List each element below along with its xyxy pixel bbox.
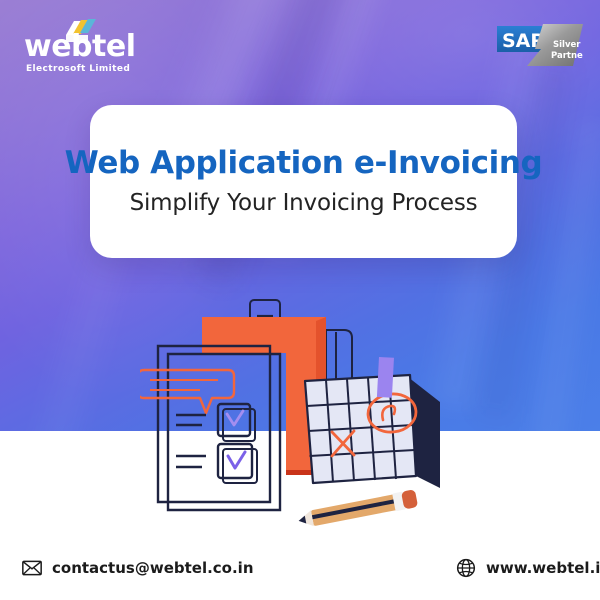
pencil (297, 489, 418, 530)
checkbox-checked-1[interactable] (218, 404, 255, 441)
page-subtitle: Simplify Your Invoicing Process (130, 190, 478, 216)
envelope-icon (22, 558, 42, 578)
badge-tier-line2: Partner (551, 51, 583, 61)
globe-icon (456, 558, 476, 578)
contact-website[interactable]: www.webtel.in (456, 558, 600, 578)
footer-contact-bar: contactus@webtel.co.in www.webtel.in (0, 540, 600, 600)
checklist-document (140, 346, 280, 510)
sap-silver-partner-badge-icon[interactable]: SAP Silver Partner (497, 22, 583, 68)
contact-email-text: contactus@webtel.co.in (52, 559, 254, 577)
checkbox-checked-2[interactable] (218, 444, 257, 483)
webtel-logo[interactable]: webtel Electrosoft Limited (20, 18, 170, 74)
contact-email[interactable]: contactus@webtel.co.in (22, 558, 254, 578)
title-card: Web Application e-Invoicing Simplify You… (90, 105, 517, 258)
invoicing-illustration (140, 280, 480, 540)
purple-bookmark (377, 357, 394, 398)
badge-tier-line1: Silver (553, 40, 581, 50)
logo-tagline: Electrosoft Limited (26, 64, 130, 74)
speech-bubble (140, 370, 234, 413)
logo-wordmark: webtel (24, 32, 136, 62)
page-title: Web Application e-Invoicing (65, 147, 543, 180)
contact-website-text: www.webtel.in (486, 559, 600, 577)
promo-banner: webtel Electrosoft Limited SAP Silver Pa… (0, 0, 600, 600)
